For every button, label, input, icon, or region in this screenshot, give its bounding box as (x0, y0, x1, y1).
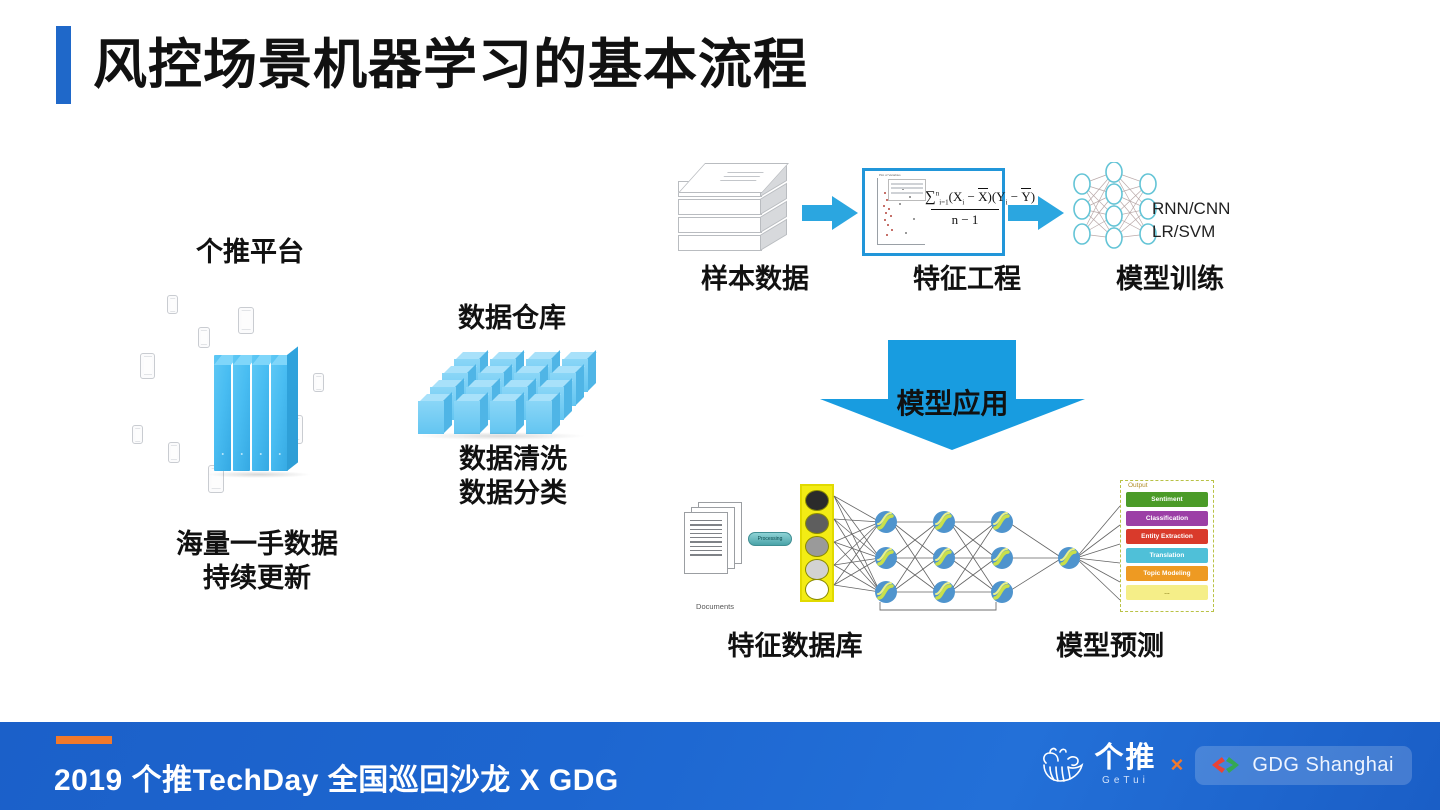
model-apply-label: 模型应用 (820, 382, 1085, 422)
phone-icon (198, 327, 210, 348)
warehouse-shadow (416, 432, 586, 440)
phone-icon (168, 442, 180, 463)
gdg-chevron-icon (1209, 754, 1243, 776)
server-stack-icon (214, 347, 300, 477)
scatter-plot: Plot of Variables (869, 174, 929, 252)
footer-logos: 个推 GeTui × GDG Shanghai (1038, 736, 1412, 794)
step-label-model-training: 模型训练 (1075, 263, 1265, 297)
platform-illustration (140, 285, 380, 510)
warehouse-cubes-icon (418, 352, 596, 442)
footer-accent-dash (56, 736, 112, 744)
title-text: 风控场景机器学习的基本流程 (93, 38, 808, 92)
getui-brand-en: GeTui (1102, 775, 1149, 786)
output-label: Output (1128, 482, 1148, 489)
output-tag: Classification (1126, 511, 1208, 526)
phone-icon (140, 353, 155, 379)
title-accent-bar (56, 26, 71, 104)
phone-icon (238, 307, 254, 334)
model-apply-arrow: 模型应用 (820, 340, 1085, 450)
prediction-caption: 模型预测 (985, 630, 1235, 664)
plot-title: Plot of Variables (879, 173, 901, 177)
getui-whale-icon (1038, 743, 1090, 787)
getui-brand-cn: 个推 (1094, 744, 1156, 773)
output-tag: Entity Extraction (1126, 529, 1208, 544)
warehouse-title: 数据仓库 (412, 302, 612, 336)
feature-db-caption: 特征数据库 (650, 630, 940, 664)
step-label-feature-engineering: 特征工程 (872, 263, 1062, 297)
output-tag: Sentiment (1126, 492, 1208, 507)
formula-denominator: n − 1 (925, 212, 1005, 228)
getui-logo: 个推 GeTui (1094, 744, 1156, 786)
phone-icon (132, 425, 143, 444)
cross-separator: × (1171, 752, 1184, 778)
footer-event-title: 2019 个推TechDay 全国巡回沙龙 X GDG (54, 755, 619, 799)
page-title: 风控场景机器学习的基本流程 (56, 26, 808, 104)
model-prediction-diagram: Documents Processing (684, 480, 1214, 620)
server-shadow (206, 471, 311, 478)
model-types-label: RNN/CNN LR/SVM (1152, 198, 1230, 244)
arrow-right-icon (1008, 196, 1064, 230)
footer-bar: 2019 个推TechDay 全国巡回沙龙 X GDG 个推 GeTui (0, 722, 1440, 810)
phone-icon (313, 373, 324, 392)
output-tags-group: Output Sentiment Classification Entity E… (1120, 480, 1214, 612)
output-tag: Translation (1126, 548, 1208, 563)
slide-root: 风控场景机器学习的基本流程 个推平台 海量一手数据 持续更新 数据仓库 (0, 0, 1440, 810)
output-tag: Topic Modeling (1126, 566, 1208, 581)
platform-title: 个推平台 (140, 236, 360, 270)
covariance-formula: ∑ni=1(Xi − X)(Yi − Y) n − 1 (925, 189, 1005, 228)
neural-network-icon (1068, 162, 1164, 262)
step-label-sample-data: 样本数据 (660, 263, 850, 297)
platform-caption: 海量一手数据 持续更新 (122, 528, 392, 596)
phone-icon (167, 295, 178, 314)
arrow-right-icon (802, 196, 858, 230)
sample-data-icon (678, 163, 796, 253)
feature-engineering-icon: Plot of Variables ∑ni=1(Xi − X)(Yi − Y) (862, 168, 1005, 256)
gdg-label: GDG Shanghai (1252, 754, 1394, 777)
warehouse-caption: 数据清洗 数据分类 (408, 443, 618, 511)
output-tag: ... (1126, 585, 1208, 600)
gdg-logo: GDG Shanghai (1195, 746, 1412, 785)
